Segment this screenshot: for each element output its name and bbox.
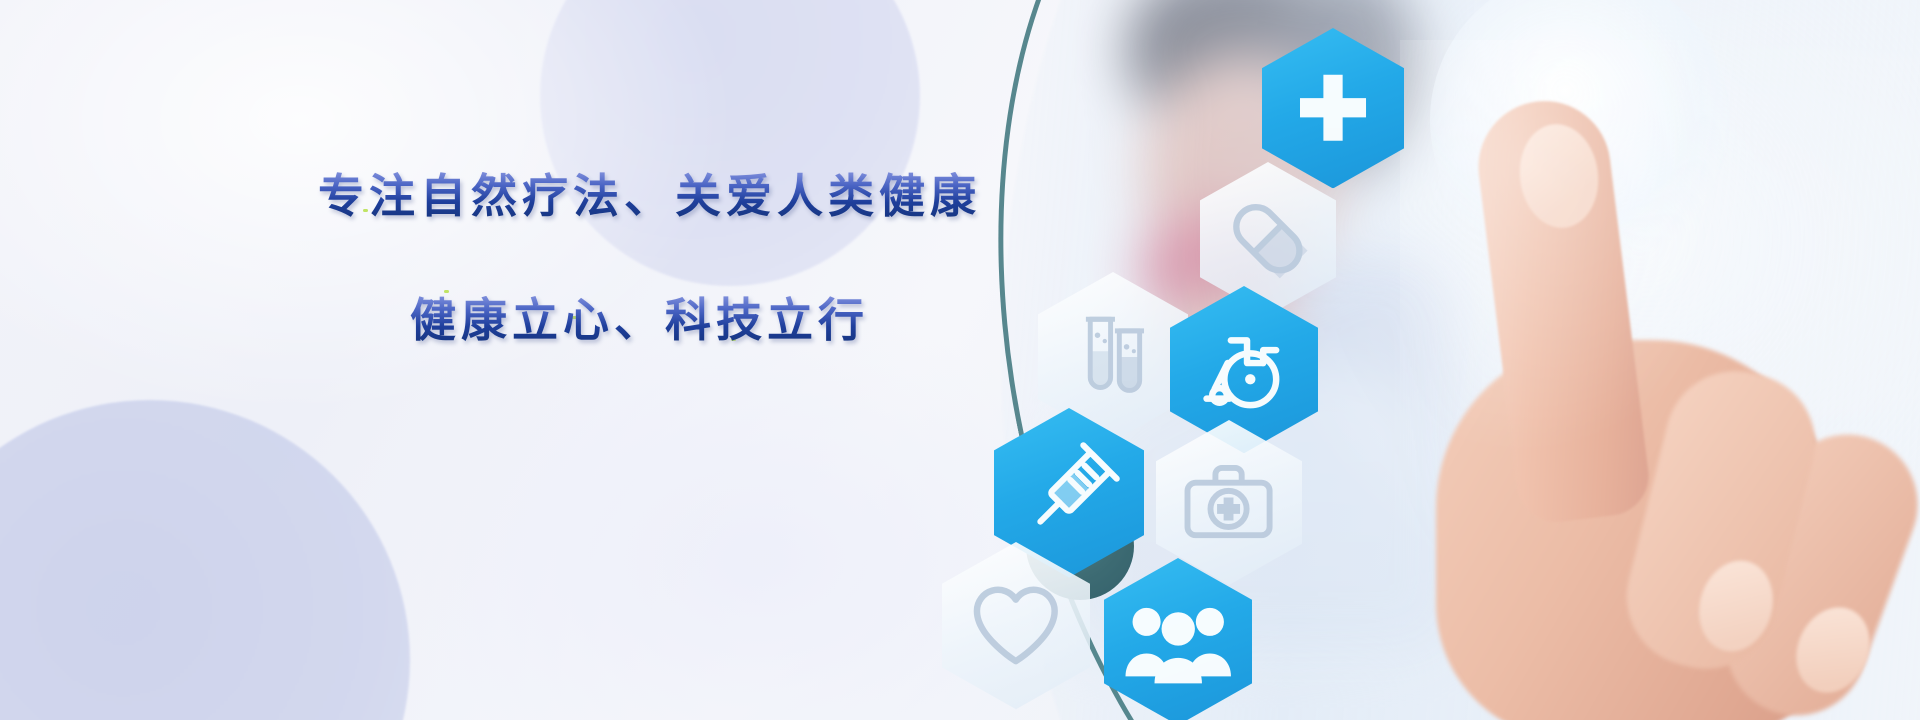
hexagon-wheelchair[interactable] — [1170, 286, 1318, 453]
decorative-circle-bottom — [0, 400, 410, 720]
hexagon-medical-cross[interactable] — [1262, 28, 1404, 188]
medical-cross-icon — [1262, 28, 1404, 188]
wheelchair-icon — [1170, 286, 1318, 453]
hexagon-icon-cluster — [1090, 10, 1820, 720]
headline-line-2: 健康立心、科技立行 — [410, 296, 1058, 344]
hexagon-pill[interactable] — [1200, 162, 1336, 316]
pill-capsule-icon — [1200, 162, 1336, 316]
headline-block: 专注自然疗法、关爱人类健康 健康立心、科技立行 — [318, 172, 1058, 345]
promo-banner: 专注自然疗法、关爱人类健康 健康立心、科技立行 — [0, 0, 1920, 720]
headline-line-1: 专注自然疗法、关爱人类健康 — [318, 172, 1058, 220]
background-wash — [0, 0, 1100, 720]
